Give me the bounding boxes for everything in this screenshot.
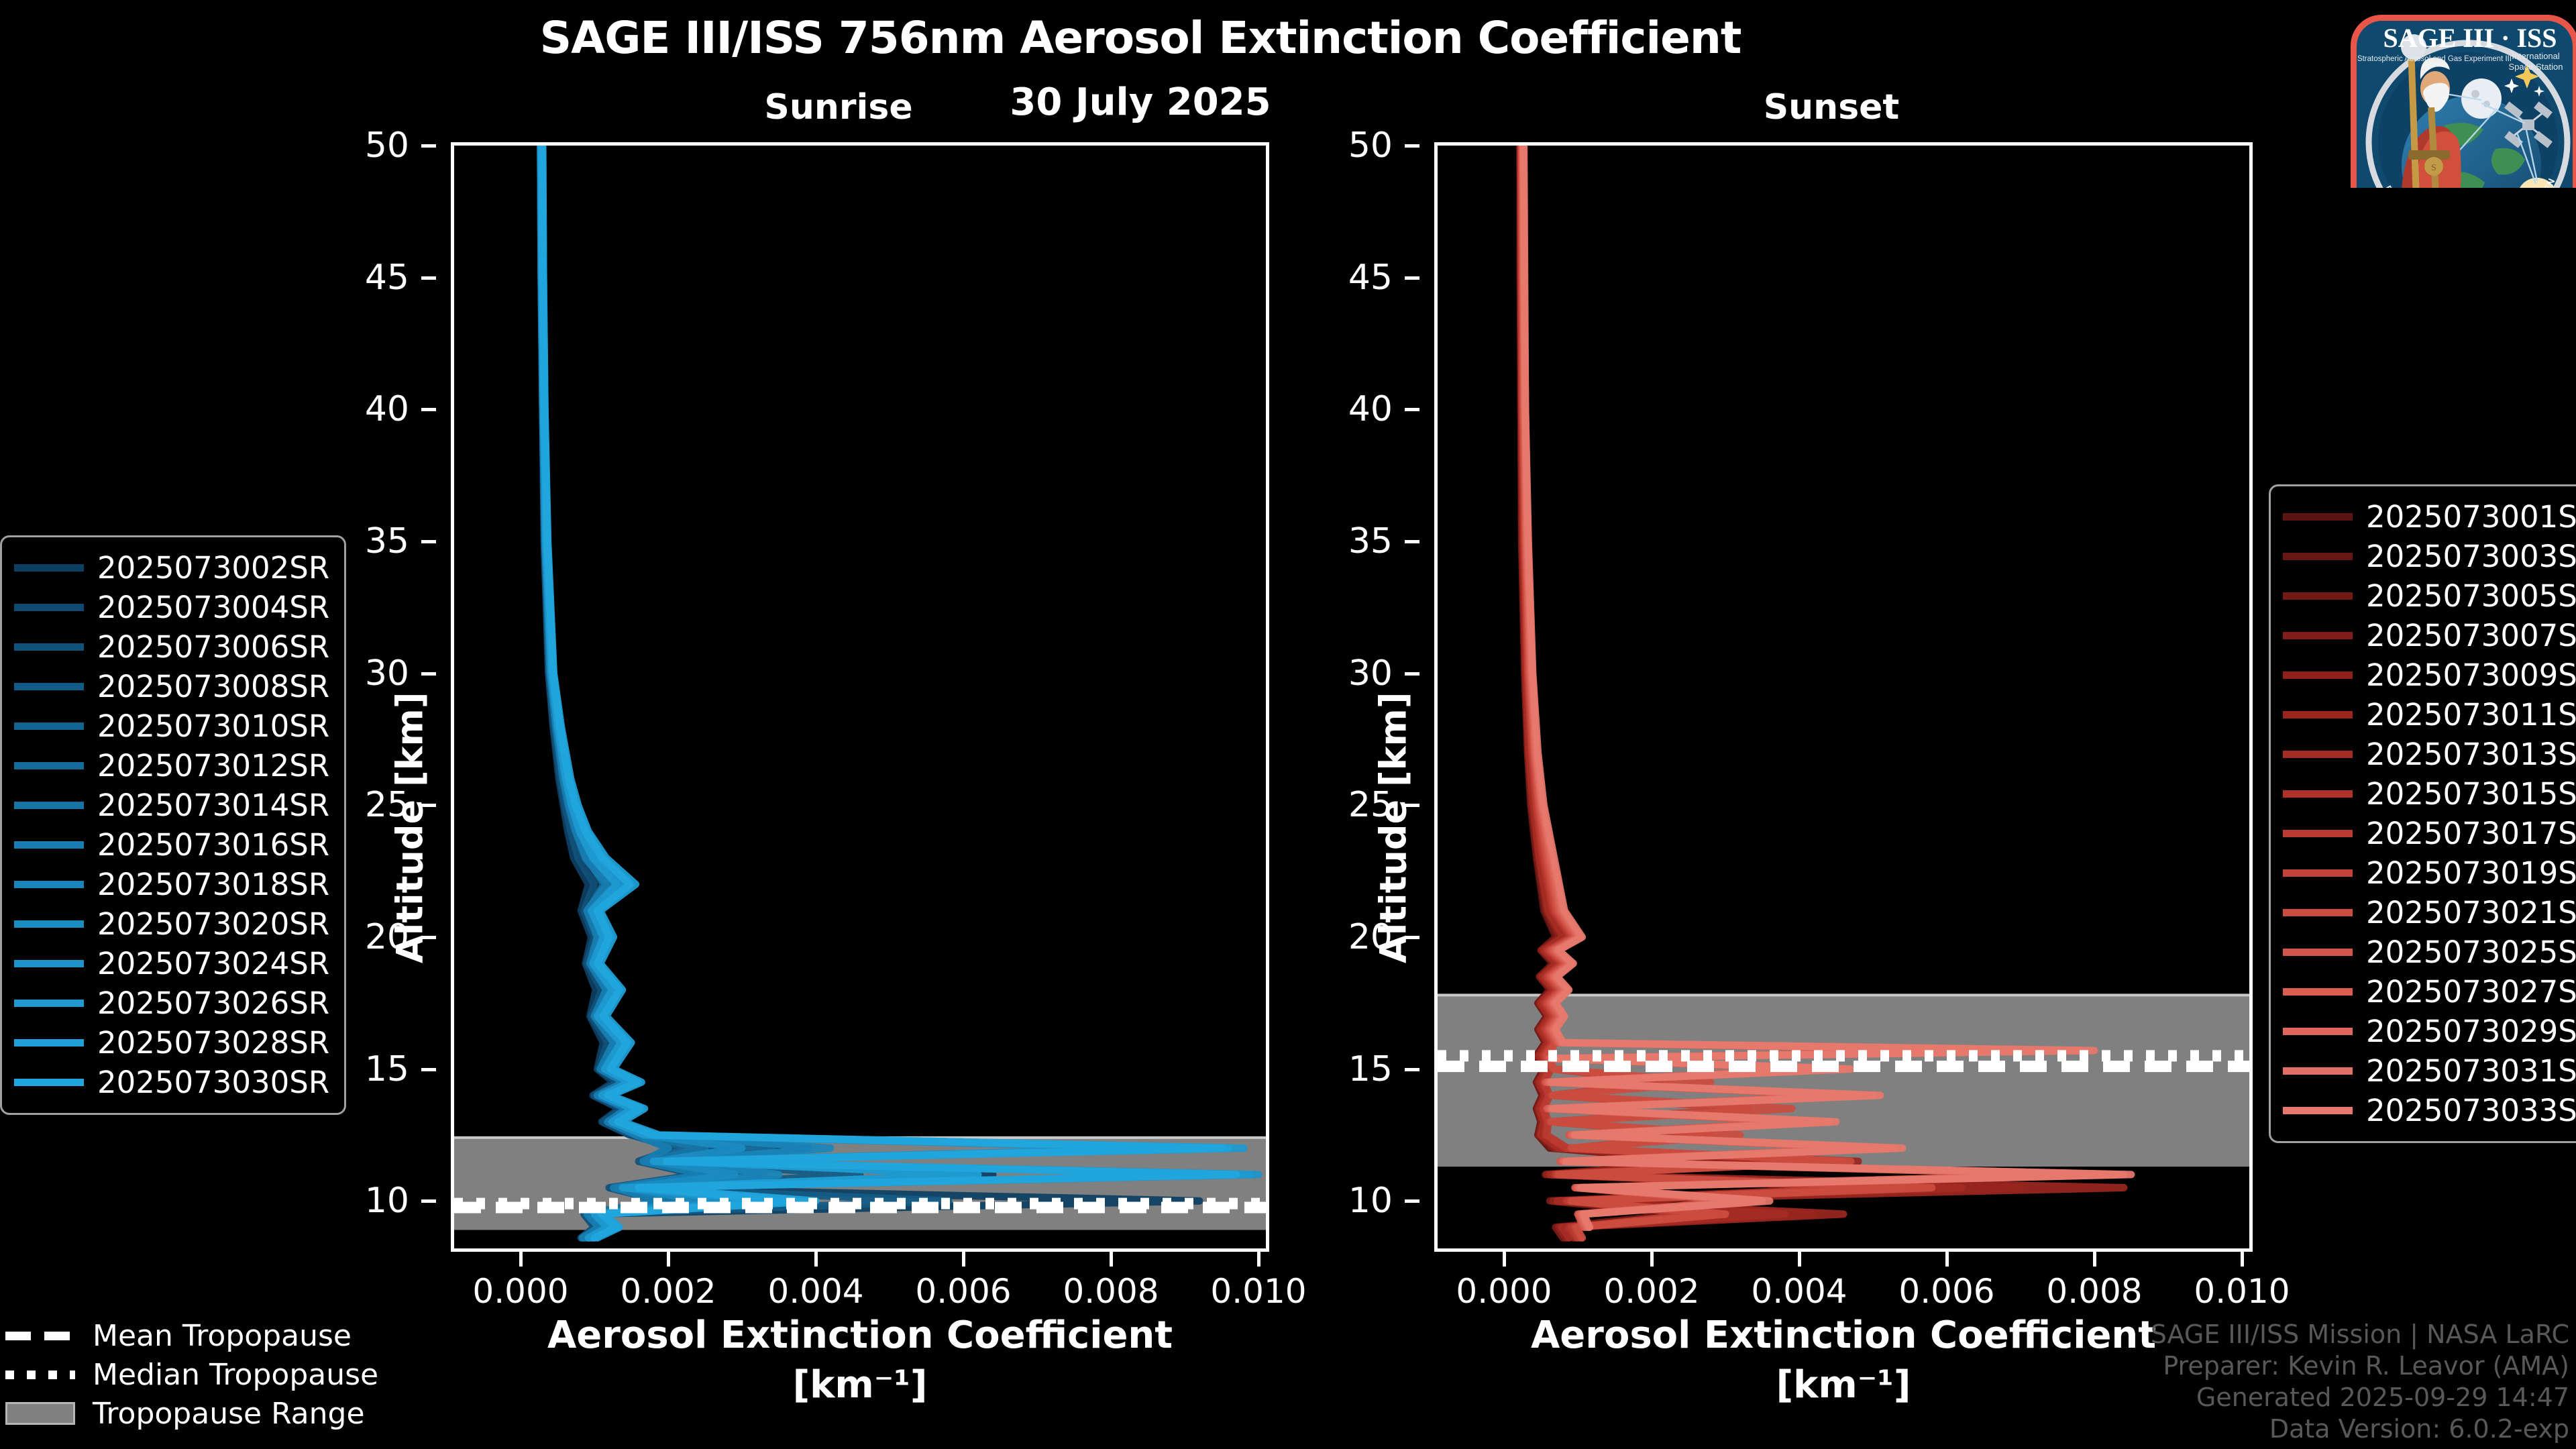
legend-label: 2025073025SS [2366, 934, 2576, 970]
logo-subtitle-left: Stratospheric Aerosol and Gas Experiment… [2357, 55, 2512, 63]
legend-item-sunset-event[interactable]: 2025073001SS [2283, 497, 2576, 537]
legend-color-swatch [14, 604, 84, 611]
credits-line-version: Data Version: 6.0.2-exp [2151, 1413, 2569, 1445]
y-tick-label: 45 [365, 258, 409, 298]
legend-item-sunrise-event[interactable]: 2025073016SR [14, 825, 329, 865]
legend-color-swatch [2283, 869, 2353, 877]
y-tick-label: 35 [365, 521, 409, 561]
x-tick-mark [1110, 1252, 1113, 1267]
legend-color-swatch [2283, 513, 2353, 521]
legend-item-sunset-event[interactable]: 2025073017SS [2283, 814, 2576, 853]
logo-title: SAGE III · ISS [2383, 23, 2557, 53]
y-tick-label: 30 [1348, 653, 1393, 694]
y-tick-mark [421, 1199, 436, 1203]
legend-label: 2025073002SR [97, 550, 329, 586]
legend-item-sunrise-event[interactable]: 2025073024SR [14, 944, 329, 983]
x-tick-mark [1650, 1252, 1654, 1267]
right-y-axis-label: Altitude [km] [1372, 692, 1414, 964]
credits-line-generated: Generated 2025-09-29 14:47 [2151, 1382, 2569, 1413]
legend-label: 2025073026SR [97, 985, 329, 1021]
legend-item-sunrise-event[interactable]: 2025073030SR [14, 1063, 329, 1102]
sunrise-plot-area [451, 142, 1269, 1252]
legend-label: 2025073018SR [97, 867, 329, 902]
logo-svg: S BALL · NASA LANGLEY RESEARCH CENTER · … [2344, 8, 2576, 188]
legend-item-sunrise-event[interactable]: 2025073006SR [14, 627, 329, 667]
x-tick-mark [519, 1252, 523, 1267]
legend-color-swatch [2283, 988, 2353, 996]
y-tick-label: 50 [1348, 125, 1393, 166]
right-x-axis-label-line2: [km⁻¹] [1434, 1363, 2253, 1407]
legend-item-sunrise-event[interactable]: 2025073004SR [14, 588, 329, 627]
legend-color-swatch [14, 643, 84, 651]
legend-item-sunrise-event[interactable]: 2025073012SR [14, 746, 329, 786]
legend-label: 2025073031SS [2366, 1053, 2576, 1089]
legend-color-swatch [2283, 909, 2353, 916]
profile-line [541, 146, 808, 1238]
x-tick-label: 0.006 [1898, 1272, 1994, 1311]
logo-subtitle-right-line1: International [2512, 51, 2560, 61]
legend-item-sunrise-event[interactable]: 2025073020SR [14, 904, 329, 944]
profile-line [542, 146, 1236, 1238]
legend-item-sunset-event[interactable]: 2025073007SS [2283, 616, 2576, 655]
sage-iii-iss-mission-patch-logo: S BALL · NASA LANGLEY RESEARCH CENTER · … [2344, 8, 2576, 188]
x-tick-label: 0.000 [1456, 1272, 1552, 1311]
credits-line-preparer: Preparer: Kevin R. Leavor (AMA) [2151, 1350, 2569, 1382]
sunrise-legend[interactable]: 2025073002SR2025073004SR2025073006SR2025… [0, 535, 346, 1115]
legend-color-swatch [14, 1079, 84, 1086]
legend-label: 2025073010SR [97, 708, 329, 744]
profile-line [542, 146, 771, 1238]
legend-item-sunrise-event[interactable]: 2025073002SR [14, 548, 329, 588]
legend-color-swatch [14, 762, 84, 769]
legend-item-sunset-event[interactable]: 2025073003SS [2283, 537, 2576, 576]
x-tick-label: 0.000 [472, 1272, 568, 1311]
y-tick-mark [421, 144, 436, 148]
legend-label: 2025073013SS [2366, 737, 2576, 772]
x-tick-mark [1503, 1252, 1506, 1267]
legend-item-sunset-event[interactable]: 2025073025SS [2283, 932, 2576, 972]
x-tick-label: 0.006 [915, 1272, 1011, 1311]
y-tick-label: 15 [1348, 1049, 1393, 1089]
legend-label: 2025073001SS [2366, 499, 2576, 535]
legend-label: 2025073019SS [2366, 855, 2576, 891]
x-tick-mark [814, 1252, 818, 1267]
dashed-line-swatch [5, 1332, 75, 1340]
legend-label: 2025073029SS [2366, 1014, 2576, 1049]
y-tick-mark [1405, 408, 1419, 411]
legend-item-sunset-event[interactable]: 2025073033SS [2283, 1091, 2576, 1130]
y-tick-mark [1405, 672, 1419, 676]
credits-block: SAGE III/ISS Mission | NASA LaRC Prepare… [2151, 1319, 2569, 1445]
x-tick-label: 0.002 [1603, 1272, 1699, 1311]
legend-color-swatch [14, 1000, 84, 1007]
legend-label: 2025073033SS [2366, 1093, 2576, 1128]
y-tick-label: 45 [1348, 258, 1393, 298]
legend-item-sunrise-event[interactable]: 2025073010SR [14, 706, 329, 746]
legend-label: 2025073009SS [2366, 657, 2576, 693]
y-tick-label: 40 [1348, 389, 1393, 429]
svg-text:S: S [2431, 163, 2436, 173]
sunrise-profile-lines [454, 146, 1266, 1248]
left-x-axis-label-line1: Aerosol Extinction Coefficient [451, 1313, 1269, 1357]
legend-label: 2025073003SS [2366, 539, 2576, 574]
legend-item-sunset-event[interactable]: 2025073005SS [2283, 576, 2576, 616]
legend-color-swatch [2283, 592, 2353, 600]
legend-label: 2025073014SR [97, 788, 329, 823]
x-tick-label: 0.010 [1210, 1272, 1306, 1311]
legend-item-sunset-event[interactable]: 2025073031SS [2283, 1051, 2576, 1091]
x-tick-mark [962, 1252, 965, 1267]
x-tick-label: 0.008 [2046, 1272, 2142, 1311]
legend-item-sunrise-event[interactable]: 2025073014SR [14, 786, 329, 825]
left-panel-title: Sunrise [604, 87, 1073, 127]
right-x-axis-label-line1: Aerosol Extinction Coefficient [1434, 1313, 2253, 1357]
legend-label: 2025073006SR [97, 629, 329, 665]
legend-color-swatch [14, 841, 84, 849]
profile-line [541, 146, 1199, 1238]
legend-color-swatch [2283, 949, 2353, 956]
legend-item-tropopause-range: Tropopause Range [5, 1394, 378, 1433]
legend-color-swatch [2283, 1107, 2353, 1114]
legend-color-swatch [2283, 672, 2353, 679]
legend-label: 2025073017SS [2366, 816, 2576, 851]
y-tick-mark [1405, 144, 1419, 148]
profile-line [543, 146, 1229, 1238]
profile-line [541, 146, 786, 1238]
legend-label-tropopause-range: Tropopause Range [93, 1397, 365, 1431]
profile-line [541, 146, 1251, 1238]
legend-item-sunrise-event[interactable]: 2025073028SR [14, 1023, 329, 1063]
profile-line [542, 146, 1258, 1238]
legend-item-sunset-event[interactable]: 2025073021SS [2283, 893, 2576, 932]
y-tick-mark [421, 276, 436, 280]
left-x-axis-label-line2: [km⁻¹] [451, 1363, 1269, 1407]
x-tick-mark [2093, 1252, 2096, 1267]
legend-item-sunset-event[interactable]: 2025073013SS [2283, 735, 2576, 774]
legend-color-swatch [2283, 632, 2353, 639]
y-tick-mark [421, 1068, 436, 1071]
page-title: SAGE III/ISS 756nm Aerosol Extinction Co… [0, 12, 2281, 64]
x-tick-mark [1798, 1252, 1801, 1267]
legend-color-swatch [2283, 1028, 2353, 1035]
legend-label: 2025073021SS [2366, 895, 2576, 930]
y-tick-mark [1405, 1068, 1419, 1071]
legend-label: 2025073012SR [97, 748, 329, 784]
x-tick-mark [1257, 1252, 1260, 1267]
legend-item-sunset-event[interactable]: 2025073029SS [2283, 1012, 2576, 1051]
legend-color-swatch [2283, 1067, 2353, 1075]
legend-color-swatch [14, 920, 84, 928]
y-tick-label: 30 [365, 653, 409, 694]
legend-label: 2025073027SS [2366, 974, 2576, 1010]
x-tick-label: 0.004 [767, 1272, 863, 1311]
x-tick-label: 0.010 [2194, 1272, 2290, 1311]
left-y-axis-label: Altitude [km] [388, 692, 431, 964]
sunset-plot-area [1434, 142, 2253, 1252]
legend-color-swatch [14, 683, 84, 690]
legend-label: 2025073004SR [97, 590, 329, 625]
y-tick-mark [421, 540, 436, 543]
legend-color-swatch [2283, 830, 2353, 837]
y-tick-label: 10 [1348, 1181, 1393, 1221]
y-tick-mark [1405, 540, 1419, 543]
legend-item-sunset-event[interactable]: 2025073027SS [2283, 972, 2576, 1012]
legend-item-sunrise-event[interactable]: 2025073026SR [14, 983, 329, 1023]
y-tick-label: 50 [365, 125, 409, 166]
sunset-profile-lines [1438, 146, 2249, 1248]
legend-label: 2025073011SS [2366, 697, 2576, 733]
x-tick-label: 0.004 [1751, 1272, 1847, 1311]
x-tick-label: 0.008 [1063, 1272, 1159, 1311]
dotted-line-swatch [5, 1371, 75, 1379]
legend-color-swatch [2283, 751, 2353, 758]
legend-color-swatch [2283, 553, 2353, 560]
y-tick-label: 40 [365, 389, 409, 429]
legend-item-sunset-event[interactable]: 2025073019SS [2283, 853, 2576, 893]
y-tick-mark [421, 672, 436, 676]
legend-label: 2025073016SR [97, 827, 329, 863]
y-tick-label: 35 [1348, 521, 1393, 561]
y-tick-mark [421, 408, 436, 411]
profile-line [541, 146, 742, 1238]
legend-item-mean-tropopause: Mean Tropopause [5, 1316, 378, 1355]
sunset-legend[interactable]: 2025073001SS2025073003SS2025073005SS2025… [2269, 484, 2576, 1143]
legend-color-swatch [14, 802, 84, 809]
legend-item-sunrise-event[interactable]: 2025073008SR [14, 667, 329, 706]
legend-color-swatch [14, 564, 84, 572]
x-tick-mark [1945, 1252, 1949, 1267]
legend-item-sunset-event[interactable]: 2025073011SS [2283, 695, 2576, 735]
legend-label: 2025073007SS [2366, 618, 2576, 653]
tropopause-legend: Mean Tropopause Median Tropopause Tropop… [5, 1316, 378, 1433]
legend-label-median-tropopause: Median Tropopause [93, 1358, 378, 1392]
legend-label: 2025073015SS [2366, 776, 2576, 812]
right-panel-title: Sunset [1597, 87, 2066, 127]
logo-subtitle-right-line2: Space Station [2509, 62, 2563, 72]
legend-label: 2025073024SR [97, 946, 329, 981]
y-tick-label: 10 [365, 1181, 409, 1221]
y-tick-mark [1405, 1199, 1419, 1203]
legend-color-swatch [14, 881, 84, 888]
legend-label: 2025073030SR [97, 1065, 329, 1100]
legend-item-sunrise-event[interactable]: 2025073018SR [14, 865, 329, 904]
legend-color-swatch [2283, 711, 2353, 718]
x-tick-mark [2241, 1252, 2244, 1267]
legend-color-swatch [14, 960, 84, 967]
legend-item-median-tropopause: Median Tropopause [5, 1355, 378, 1394]
legend-label: 2025073005SS [2366, 578, 2576, 614]
y-tick-mark [1405, 276, 1419, 280]
credits-line-mission: SAGE III/ISS Mission | NASA LaRC [2151, 1319, 2569, 1350]
legend-color-swatch [14, 1039, 84, 1046]
x-tick-label: 0.002 [620, 1272, 716, 1311]
gray-band-swatch [5, 1402, 75, 1425]
legend-label: 2025073028SR [97, 1025, 329, 1061]
legend-item-sunset-event[interactable]: 2025073009SS [2283, 655, 2576, 695]
legend-color-swatch [14, 722, 84, 730]
legend-label-mean-tropopause: Mean Tropopause [93, 1319, 352, 1353]
x-tick-mark [667, 1252, 670, 1267]
profile-line [543, 146, 830, 1238]
legend-label: 2025073008SR [97, 669, 329, 704]
legend-item-sunset-event[interactable]: 2025073015SS [2283, 774, 2576, 814]
y-tick-label: 15 [365, 1049, 409, 1089]
legend-label: 2025073020SR [97, 906, 329, 942]
legend-color-swatch [2283, 790, 2353, 798]
